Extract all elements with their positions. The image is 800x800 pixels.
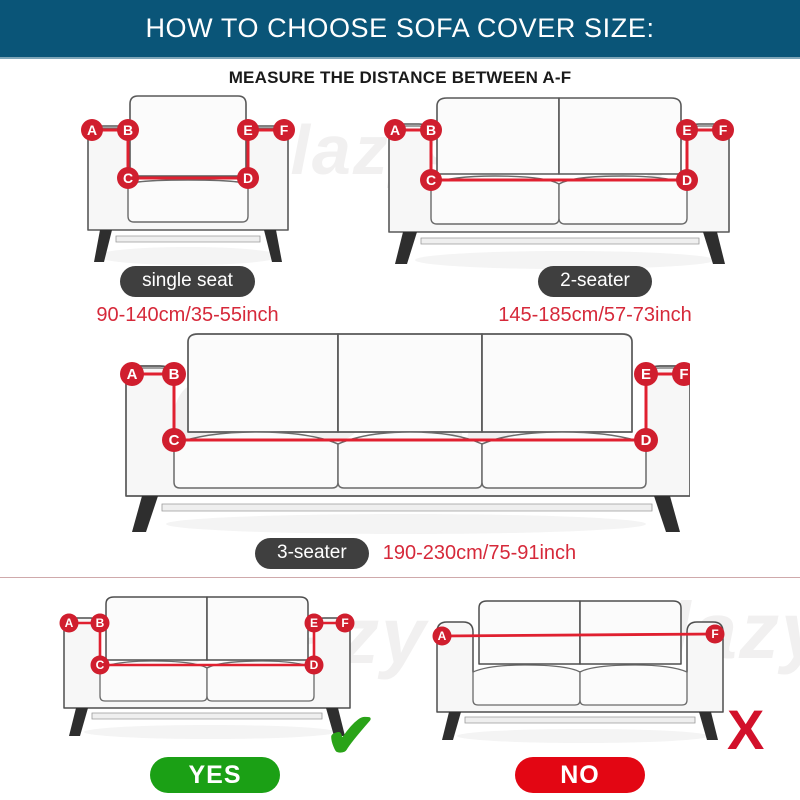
svg-text:C: C <box>169 432 180 449</box>
svg-text:A: A <box>390 122 400 138</box>
size-badge-3-seater: 3-seater <box>255 538 369 569</box>
correct-sofa-illustration: A B C D E F <box>52 592 362 742</box>
section-divider <box>0 577 800 578</box>
verdict-yes-badge: YES <box>150 757 280 793</box>
measurement-single-seat: 90-140cm/35-55inch <box>0 304 375 327</box>
diagram-2-seater: A B C D E F <box>375 92 745 272</box>
svg-text:A: A <box>87 122 97 138</box>
svg-text:F: F <box>711 627 718 641</box>
svg-text:E: E <box>310 616 318 630</box>
svg-text:D: D <box>243 170 253 186</box>
banner-underline <box>0 57 800 59</box>
svg-text:D: D <box>310 658 319 672</box>
diagram-incorrect-measurement: A F <box>425 596 735 746</box>
svg-text:F: F <box>280 122 289 138</box>
two-seater-illustration: A B C D E F <box>375 92 745 272</box>
diagram-correct-measurement: A B C D E F <box>52 592 362 742</box>
svg-text:F: F <box>719 122 728 138</box>
page-title: HOW TO CHOOSE SOFA COVER SIZE: <box>145 13 654 44</box>
size-badge-single-seat: single seat <box>120 266 255 297</box>
svg-text:D: D <box>682 172 692 188</box>
infographic-page: HOW TO CHOOSE SOFA COVER SIZE: MEASURE T… <box>0 0 800 800</box>
svg-text:C: C <box>123 170 133 186</box>
svg-text:A: A <box>438 629 447 643</box>
svg-text:E: E <box>243 122 252 138</box>
three-seater-illustration: A B C D E F <box>110 328 690 538</box>
svg-text:B: B <box>426 122 436 138</box>
page-subtitle: MEASURE THE DISTANCE BETWEEN A-F <box>0 68 800 88</box>
svg-text:F: F <box>341 616 348 630</box>
header-banner: HOW TO CHOOSE SOFA COVER SIZE: <box>0 0 800 57</box>
checkmark-icon: ✔ <box>325 706 377 768</box>
svg-text:B: B <box>169 366 180 383</box>
svg-text:D: D <box>641 432 652 449</box>
svg-text:C: C <box>426 172 436 188</box>
size-badge-2-seater: 2-seater <box>538 266 652 297</box>
svg-text:E: E <box>641 366 651 383</box>
verdict-no-badge: NO <box>515 757 645 793</box>
diagram-3-seater: A B C D E F <box>110 328 690 538</box>
svg-text:A: A <box>65 616 74 630</box>
svg-text:B: B <box>123 122 133 138</box>
measurement-2-seater: 145-185cm/57-73inch <box>405 304 785 327</box>
diagram-single-seat: A B C D E F <box>70 88 300 268</box>
svg-text:F: F <box>679 366 688 383</box>
incorrect-sofa-illustration: A F <box>425 596 735 746</box>
measurement-3-seater: 190-230cm/75-91inch <box>383 542 576 565</box>
svg-text:C: C <box>96 658 105 672</box>
svg-text:A: A <box>127 366 138 383</box>
cross-mark-icon: X <box>727 702 764 758</box>
label-single-seat: single seat 90-140cm/35-55inch <box>0 266 375 327</box>
svg-text:B: B <box>96 616 105 630</box>
svg-text:E: E <box>682 122 691 138</box>
label-3-seater: 3-seater 190-230cm/75-91inch <box>255 538 576 569</box>
single-seat-illustration: A B C D E F <box>70 88 300 268</box>
label-2-seater: 2-seater 145-185cm/57-73inch <box>405 266 785 327</box>
